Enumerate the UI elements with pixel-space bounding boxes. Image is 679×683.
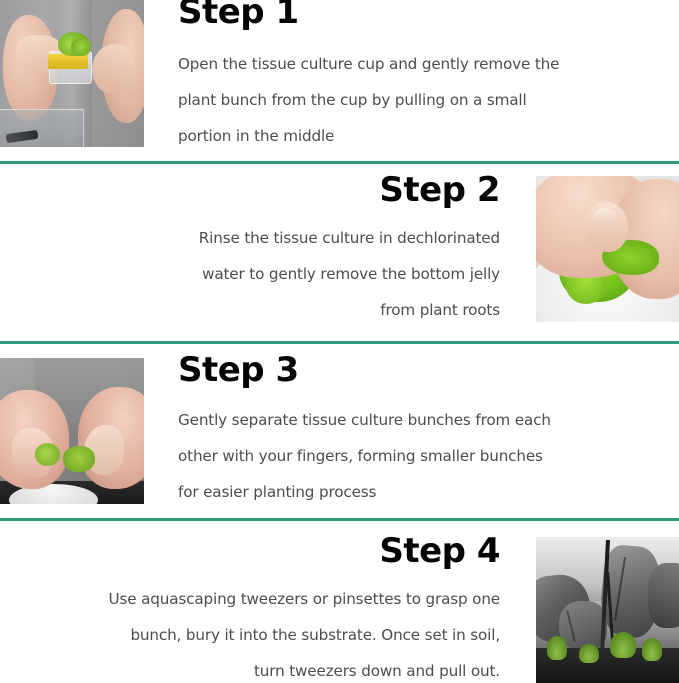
step-3-section: Step 3 Gently separate tissue culture bu… [0, 344, 679, 518]
step-1-section: Step 1 Open the tissue culture cup and g… [0, 0, 679, 161]
plant-bunch-2 [71, 38, 91, 56]
step-1-body: Open the tissue culture cup and gently r… [178, 46, 623, 154]
step-3-title: Step 3 [178, 350, 623, 390]
cup-yellow-label [48, 54, 88, 69]
step-3-photo [0, 358, 144, 504]
step-4-title: Step 4 [40, 531, 500, 571]
plant-bunch-left [35, 443, 61, 466]
step-3-body-line-3: for easier planting process [178, 474, 623, 510]
planted-bunch-3 [610, 632, 636, 658]
thumbnail [593, 208, 616, 226]
step-2-body-line-2: water to gently remove the bottom jelly [60, 256, 500, 292]
step-2-body: Rinse the tissue culture in dechlorinate… [60, 220, 500, 328]
step-2-body-line-1: Rinse the tissue culture in dechlorinate… [60, 220, 500, 256]
step-2-text-column: Step 2 Rinse the tissue culture in dechl… [60, 170, 500, 328]
step-2-title: Step 2 [60, 170, 500, 210]
step-4-body: Use aquascaping tweezers or pinsettes to… [40, 581, 500, 683]
step-4-body-line-1: Use aquascaping tweezers or pinsettes to… [40, 581, 500, 617]
step-1-body-line-1: Open the tissue culture cup and gently r… [178, 46, 623, 82]
step-1-title: Step 1 [178, 0, 623, 32]
step-4-body-line-2: bunch, bury it into the substrate. Once … [40, 617, 500, 653]
step-2-section: Step 2 Rinse the tissue culture in dechl… [0, 164, 679, 341]
right-fingers [92, 44, 135, 94]
step-1-body-line-2: plant bunch from the cup by pulling on a… [178, 82, 623, 118]
plant-bunch-right [63, 446, 95, 472]
step-3-text-column: Step 3 Gently separate tissue culture bu… [178, 350, 623, 510]
step-1-body-line-3: portion in the middle [178, 118, 623, 154]
step-2-body-line-3: from plant roots [60, 292, 500, 328]
step-4-text-column: Step 4 Use aquascaping tweezers or pinse… [40, 531, 500, 683]
step-2-photo [536, 176, 679, 322]
instruction-sheet: Step 1 Open the tissue culture cup and g… [0, 0, 679, 683]
planted-bunch-2 [579, 644, 599, 663]
step-1-text-column: Step 1 Open the tissue culture cup and g… [178, 0, 623, 154]
step-4-section: Step 4 Use aquascaping tweezers or pinse… [0, 521, 679, 683]
planted-bunch-4 [642, 638, 662, 661]
step-1-photo [0, 0, 144, 147]
step-3-body-line-1: Gently separate tissue culture bunches f… [178, 402, 623, 438]
rock-right [648, 563, 679, 627]
step-4-photo [536, 537, 679, 683]
planted-bunch-1 [547, 636, 567, 659]
step-4-body-line-3: turn tweezers down and pull out. [40, 653, 500, 683]
step-3-body-line-2: other with your fingers, forming smaller… [178, 438, 623, 474]
step-3-body: Gently separate tissue culture bunches f… [178, 402, 623, 510]
